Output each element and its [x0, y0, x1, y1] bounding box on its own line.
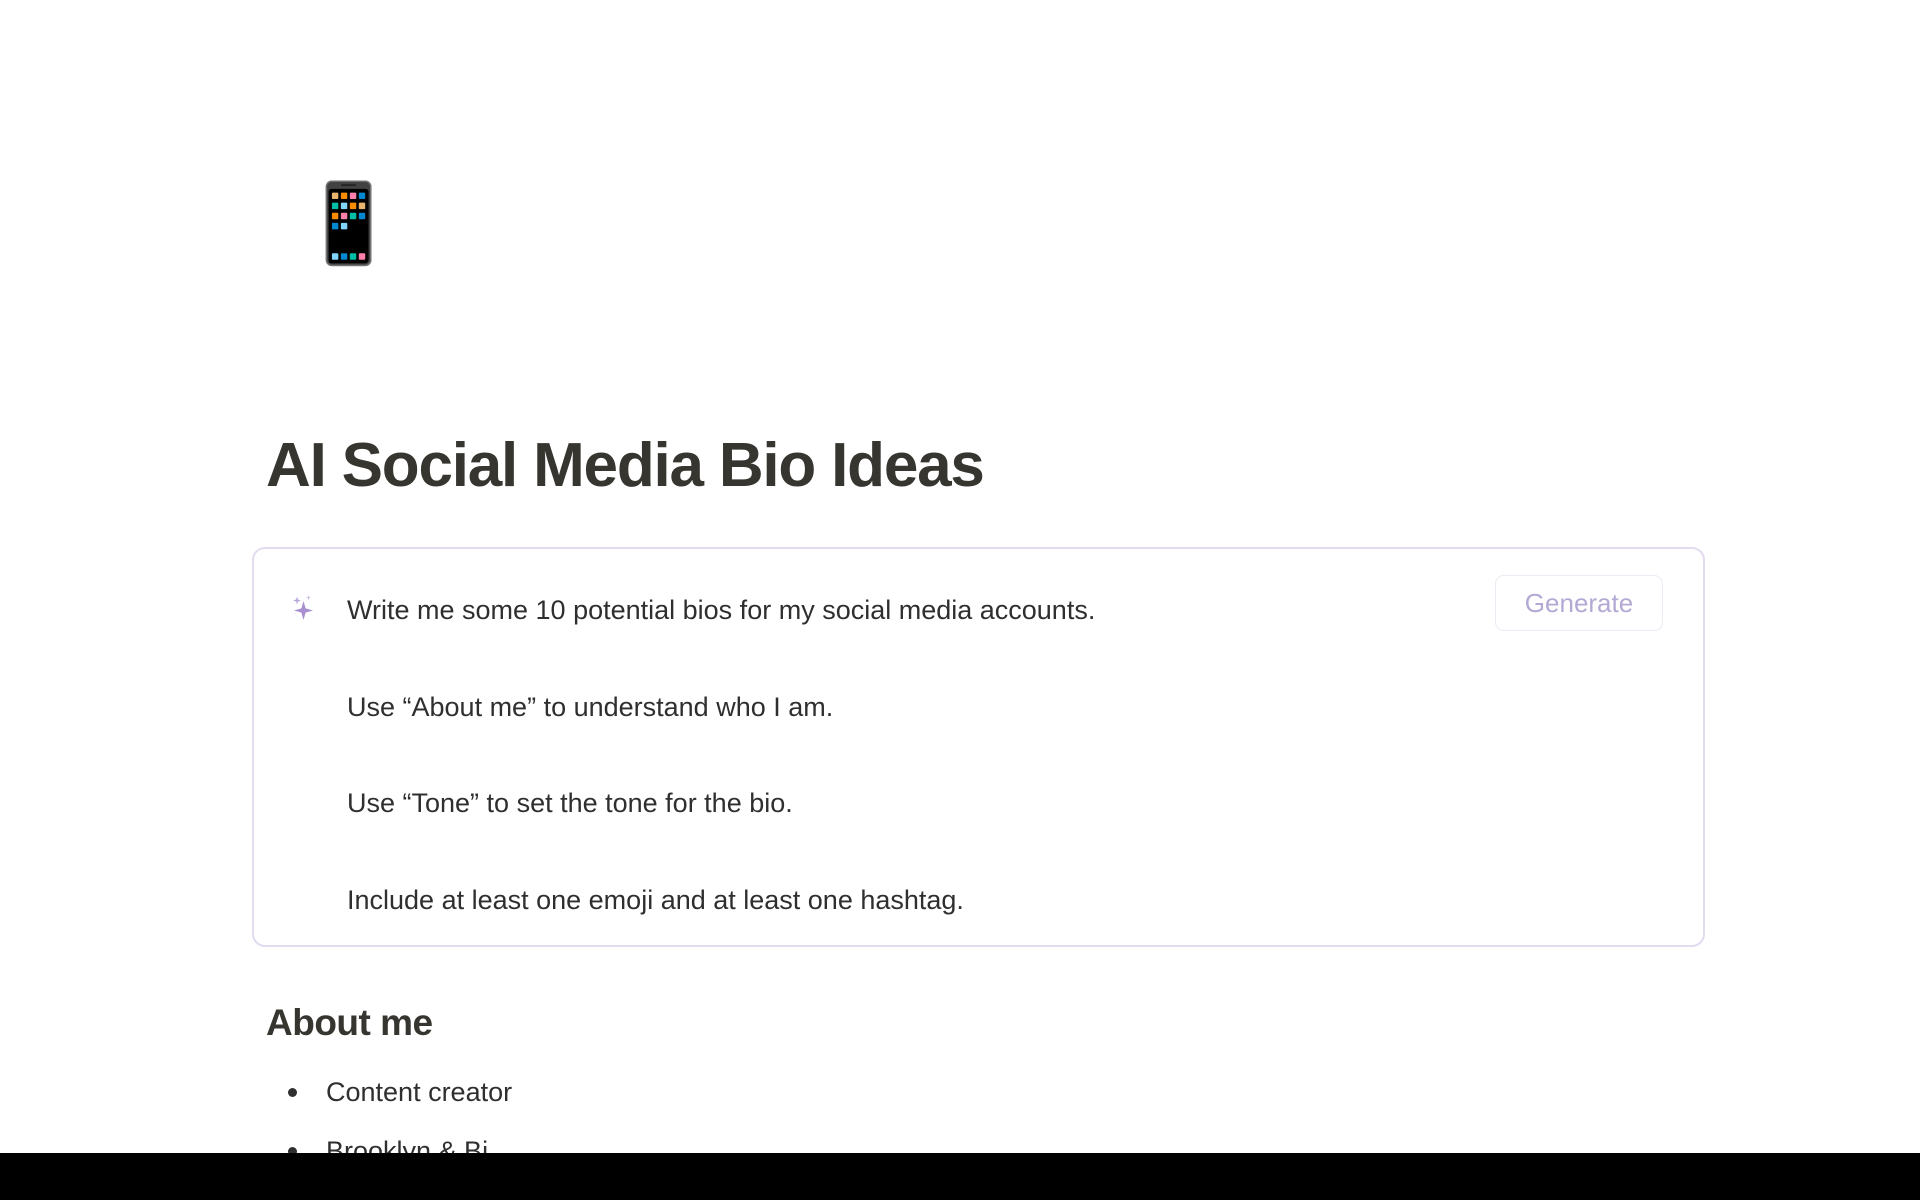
sparkle-icon — [284, 591, 320, 627]
page-title: AI Social Media Bio Ideas — [266, 430, 984, 501]
prompt-line-main[interactable]: Write me some 10 potential bios for my s… — [347, 592, 1095, 628]
prompt-line-tone[interactable]: Use “Tone” to set the tone for the bio. — [347, 785, 793, 821]
prompt-line-about-me[interactable]: Use “About me” to understand who I am. — [347, 689, 833, 725]
page-root: 📱 AI Social Media Bio Ideas Write me som… — [0, 0, 1920, 1200]
viewport-cutoff-bar — [0, 1153, 1920, 1200]
generate-button[interactable]: Generate — [1495, 575, 1663, 631]
list-item[interactable]: Content creator — [266, 1075, 1466, 1110]
mobile-phone-emoji[interactable]: 📱 — [300, 185, 397, 263]
ai-prompt-card: Write me some 10 potential bios for my s… — [252, 547, 1705, 947]
prompt-line-emoji-hashtag[interactable]: Include at least one emoji and at least … — [347, 882, 964, 918]
about-me-heading: About me — [266, 1002, 433, 1044]
